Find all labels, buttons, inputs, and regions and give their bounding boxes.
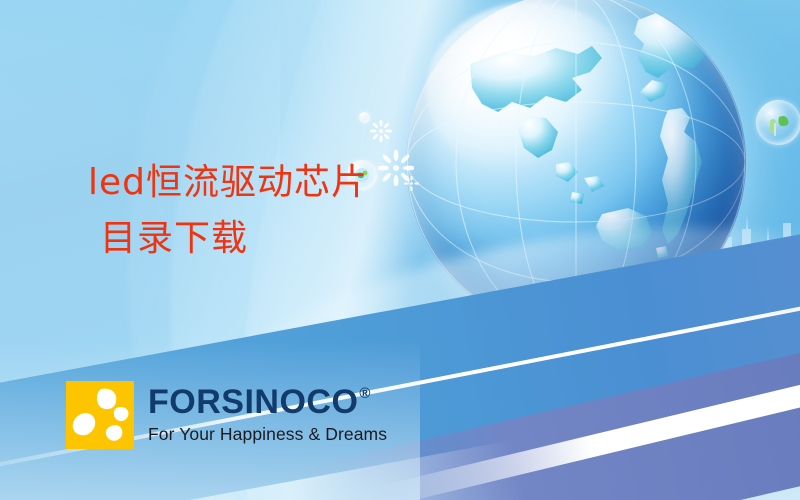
brand-wordmark: FORSINOCO ® — [148, 385, 387, 419]
page-title: led恒流驱动芯片 目录下载 — [88, 165, 368, 257]
daisy-flower-icon — [404, 176, 419, 196]
headline-line-1: led恒流驱动芯片 — [88, 165, 368, 201]
bubble-with-sprout — [756, 100, 800, 145]
slide-canvas: led恒流驱动芯片 目录下载 FORSINOCO ® For Your Happ… — [0, 0, 800, 500]
brand-wordmark-text: FORSINOCO — [148, 385, 358, 419]
bubble-small — [359, 112, 370, 123]
brand-tagline: For Your Happiness & Dreams — [148, 426, 387, 444]
registered-trademark-icon: ® — [359, 386, 371, 401]
brand-logo: FORSINOCO ® For Your Happiness & Dreams — [66, 381, 387, 449]
pinwheel-flower-mark-icon — [66, 381, 134, 449]
headline-line-2: 目录下载 — [100, 221, 368, 257]
daisy-flower-icon — [370, 120, 392, 147]
